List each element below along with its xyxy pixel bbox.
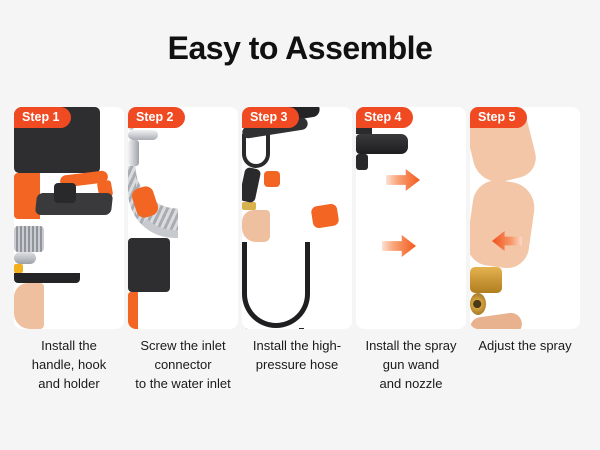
step-caption-3: Install the high- pressure hose	[242, 336, 352, 393]
spray-wand-shaft	[356, 127, 372, 134]
step-card-1: Step 1	[14, 107, 124, 329]
hose-brass-connector	[242, 202, 256, 210]
washer-cylinder	[14, 252, 36, 264]
faucet-neck	[128, 140, 139, 166]
step-illustration-3	[242, 107, 352, 329]
infographic-root: Easy to Assemble Step 1 St	[0, 0, 600, 450]
spray-nozzle-tip	[356, 154, 368, 170]
hand	[242, 210, 270, 242]
step-badge-4: Step 4	[356, 107, 413, 128]
step-caption-5: Adjust the spray	[470, 336, 580, 393]
spray-gun-grip	[242, 167, 261, 204]
washer-front-panel	[128, 292, 138, 329]
brass-connector-opening	[470, 293, 486, 315]
washer-handle-grip	[54, 183, 76, 203]
step-illustration-5	[470, 107, 580, 329]
step-badge-5: Step 5	[470, 107, 527, 128]
step-card-3: Step 3	[242, 107, 352, 329]
right-hand	[470, 177, 538, 271]
high-pressure-hose	[242, 242, 310, 328]
step-illustration-1	[14, 107, 124, 329]
step-caption-2: Screw the inlet connector to the water i…	[128, 336, 238, 393]
brass-connector	[470, 267, 502, 293]
step-caption-1: Install the handle, hook and holder	[14, 336, 124, 393]
arrow-right-icon	[382, 235, 416, 257]
hand	[14, 283, 44, 329]
step-illustration-2	[128, 107, 238, 329]
high-pressure-hose-coil	[242, 328, 304, 329]
step-card-4: Step 4	[356, 107, 466, 329]
washer-base	[14, 273, 80, 283]
washer-brass-fitting	[14, 264, 23, 273]
step-caption-4: Install the spray gun wand and nozzle	[356, 336, 466, 393]
step-card-5: Step 5	[470, 107, 580, 329]
spray-gun-trigger-guard	[242, 134, 270, 168]
step-card-2: Step 2	[128, 107, 238, 329]
spray-nozzle-body	[356, 134, 408, 154]
arrow-right-icon	[386, 169, 420, 191]
page-title: Easy to Assemble	[0, 30, 600, 67]
washer-motor-coil	[14, 226, 44, 252]
faucet-spout	[128, 130, 158, 140]
step-badge-3: Step 3	[242, 107, 299, 128]
vevor-logo-mark	[14, 219, 34, 226]
step-badge-2: Step 2	[128, 107, 185, 128]
step-badge-1: Step 1	[14, 107, 71, 128]
captions-row: Install the handle, hook and holder Scre…	[14, 336, 586, 393]
steps-row: Step 1 Step 2	[14, 107, 586, 329]
step-illustration-4	[356, 107, 466, 329]
washer-carry-handle	[310, 203, 339, 229]
washer-body	[128, 238, 170, 292]
spray-gun-trigger	[264, 171, 280, 187]
